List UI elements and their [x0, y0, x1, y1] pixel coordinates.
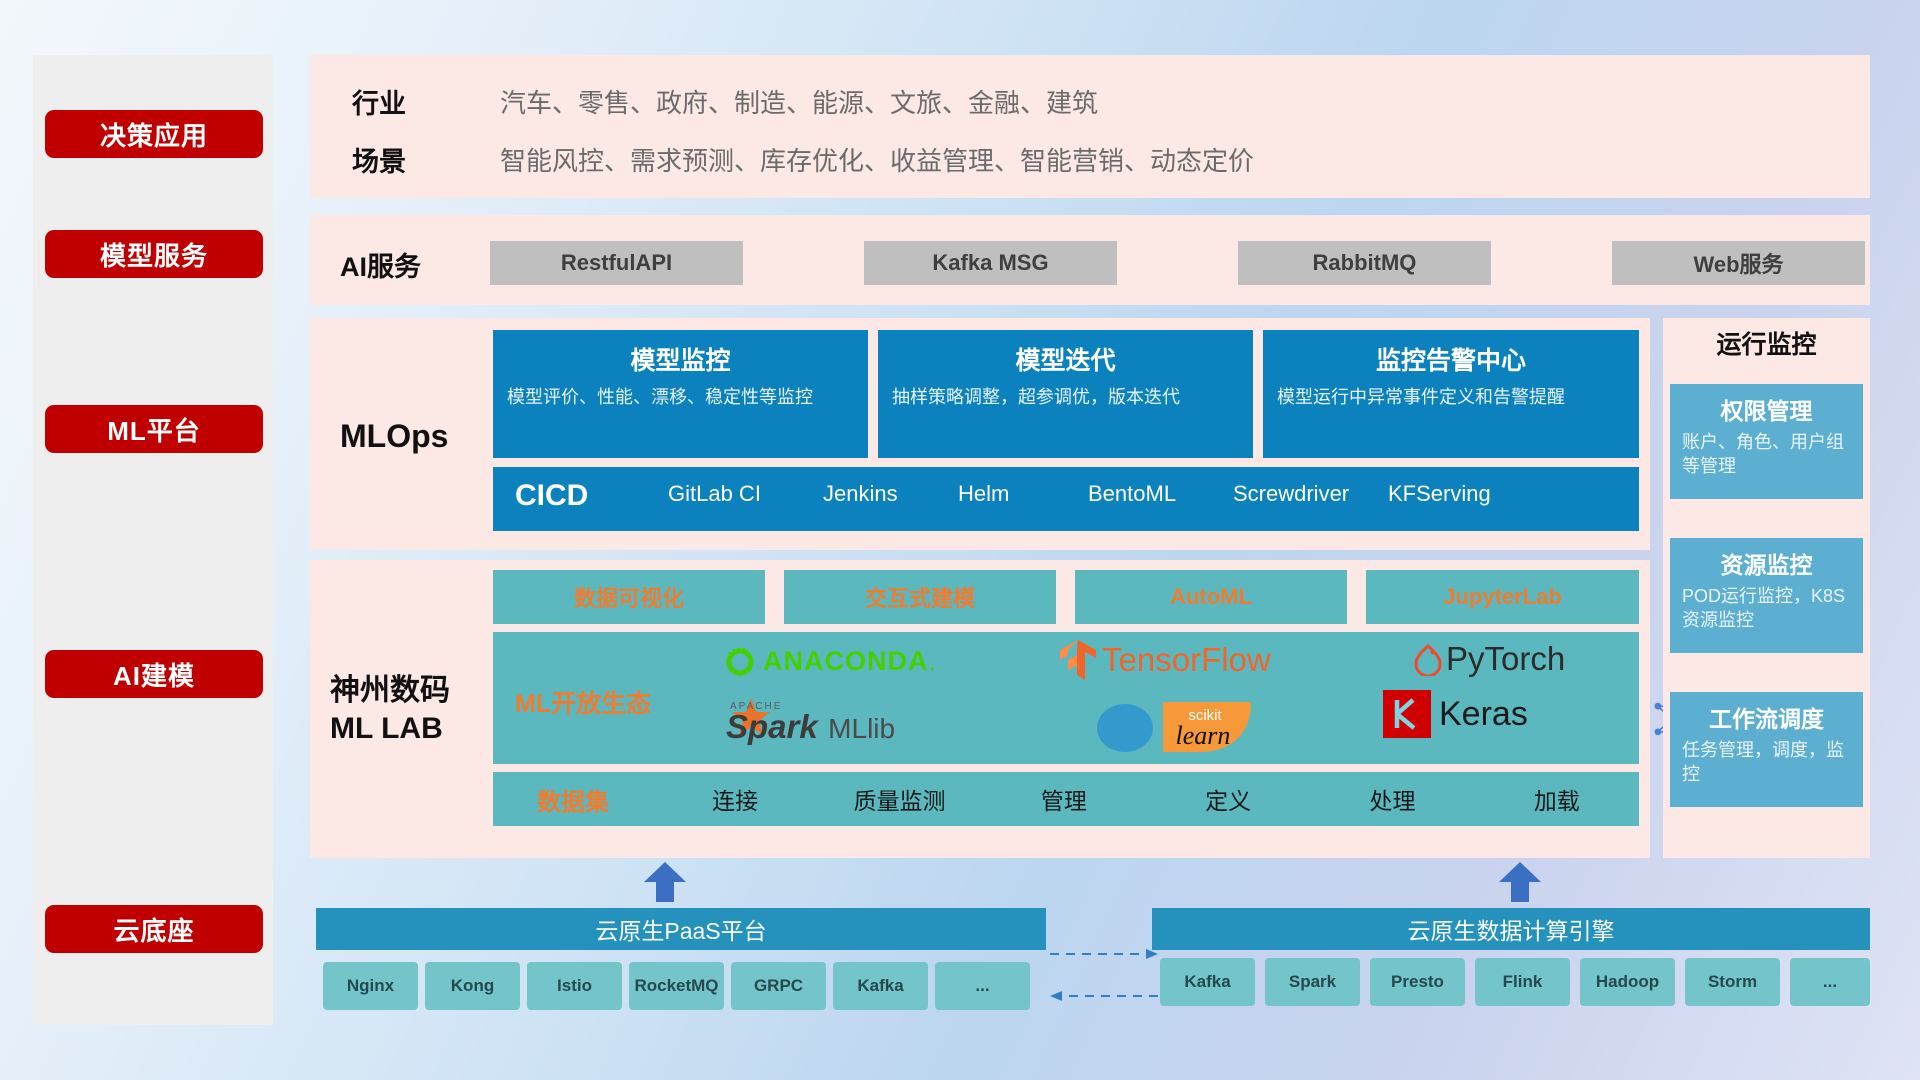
cloud-chip-more-right[interactable]: ...: [1790, 958, 1870, 1006]
monitor-card-permission[interactable]: 权限管理 账户、角色、用户组等管理: [1670, 384, 1863, 499]
chip-label: Spark: [1289, 973, 1336, 992]
svg-text:learn: learn: [1176, 721, 1231, 750]
pytorch-icon: [1413, 642, 1443, 676]
service-chip-web-service[interactable]: Web服务: [1612, 241, 1865, 285]
industry-value: 汽车、零售、政府、制造、能源、文旅、金融、建筑: [500, 83, 1098, 120]
chip-label: 交互式建模: [865, 581, 975, 613]
chip-label: Kong: [451, 977, 494, 996]
dataset-item-connect[interactable]: 连接: [653, 782, 817, 816]
cloud-chip-spark[interactable]: Spark: [1265, 958, 1360, 1006]
rail-item-decision-app[interactable]: 决策应用: [45, 110, 263, 158]
scenario-label: 场景: [352, 140, 406, 179]
anaconda-wordmark: ANACONDA: [763, 646, 929, 677]
rail-item-label: ML平台: [107, 411, 201, 448]
modeling-chip-data-visualization[interactable]: 数据可视化: [493, 570, 765, 624]
dataset-item-quality-monitor[interactable]: 质量监测: [817, 782, 981, 816]
service-chip-restfulapi[interactable]: RestfulAPI: [490, 241, 743, 285]
cloud-chip-kafka-left[interactable]: Kafka: [833, 962, 928, 1010]
cicd-item-jenkins[interactable]: Jenkins: [823, 481, 935, 506]
card-title: 监控告警中心: [1263, 341, 1639, 377]
chip-label: Kafka: [857, 977, 903, 996]
cloud-chip-presto[interactable]: Presto: [1370, 958, 1465, 1006]
cloud-data-engine-bar: 云原生数据计算引擎: [1152, 908, 1870, 950]
cicd-bar: CICD GitLab CI Jenkins Helm BentoML Scre…: [493, 467, 1639, 531]
dataset-item-process[interactable]: 处理: [1310, 782, 1474, 816]
chip-label: RabbitMQ: [1313, 250, 1417, 276]
cloud-chip-nginx[interactable]: Nginx: [323, 962, 418, 1010]
cicd-item-kfserving[interactable]: KFServing: [1388, 481, 1500, 506]
chip-label: JupyterLab: [1443, 584, 1562, 610]
cloud-data-engine-label: 云原生数据计算引擎: [1408, 912, 1615, 946]
card-desc: 任务管理，调度，监控: [1670, 739, 1863, 795]
rail-item-label: 模型服务: [100, 236, 208, 273]
service-chip-kafka-msg[interactable]: Kafka MSG: [864, 241, 1117, 285]
rail-item-label: 决策应用: [100, 116, 208, 153]
chip-label: Hadoop: [1596, 973, 1659, 992]
up-arrow-data-engine: [1497, 862, 1543, 902]
left-rail: [33, 55, 273, 1025]
pytorch-logo: PyTorch: [1413, 640, 1565, 678]
cicd-item-bentoml[interactable]: BentoML: [1088, 481, 1200, 506]
chip-label: AutoML: [1170, 584, 1252, 610]
chip-label: ...: [1823, 973, 1837, 992]
card-desc: POD运行监控，K8S资源监控: [1670, 585, 1863, 641]
cloud-chip-flink[interactable]: Flink: [1475, 958, 1570, 1006]
card-title: 权限管理: [1670, 392, 1863, 426]
dataset-row: 数据集 连接 质量监测 管理 定义 处理 加载: [493, 772, 1639, 826]
industry-label: 行业: [352, 82, 406, 121]
chip-label: Istio: [557, 977, 592, 996]
card-desc: 模型评价、性能、漂移、稳定性等监控: [493, 385, 868, 409]
rail-item-model-service[interactable]: 模型服务: [45, 230, 263, 278]
cicd-item-screwdriver[interactable]: Screwdriver: [1233, 481, 1345, 506]
card-title: 模型监控: [493, 341, 868, 377]
chip-label: RestfulAPI: [561, 250, 672, 276]
anaconda-logo: ANACONDA .: [723, 644, 936, 678]
chip-label: RocketMQ: [634, 977, 718, 996]
anaconda-icon: [723, 644, 757, 678]
scenario-value: 智能风控、需求预测、库存优化、收益管理、智能营销、动态定价: [500, 141, 1254, 178]
card-desc: 账户、角色、用户组等管理: [1670, 431, 1863, 487]
dataset-item-manage[interactable]: 管理: [982, 782, 1146, 816]
cicd-item-helm[interactable]: Helm: [958, 481, 1070, 506]
chip-label: Flink: [1503, 973, 1543, 992]
chip-label: Nginx: [347, 977, 394, 996]
dataset-item-define[interactable]: 定义: [1146, 782, 1310, 816]
rail-item-label: 云底座: [113, 911, 194, 948]
pytorch-wordmark: PyTorch: [1446, 640, 1565, 678]
cloud-paas-bar: 云原生PaaS平台: [316, 908, 1046, 950]
tensorflow-wordmark: TensorFlow: [1102, 641, 1271, 679]
modeling-chip-automl[interactable]: AutoML: [1075, 570, 1347, 624]
ml-lab-line2: ML LAB: [330, 710, 450, 748]
card-title: 工作流调度: [1670, 700, 1863, 734]
spark-mllib-logo: APACHE Spark MLlib: [718, 694, 895, 752]
keras-logo: Keras: [1383, 690, 1528, 738]
card-desc: 模型运行中异常事件定义和告警提醒: [1263, 385, 1639, 409]
tensorflow-logo: TensorFlow: [1058, 638, 1271, 682]
rail-item-cloud-base[interactable]: 云底座: [45, 905, 263, 953]
ml-lab-line1: 神州数码: [330, 672, 450, 710]
cloud-chip-kafka-right[interactable]: Kafka: [1160, 958, 1255, 1006]
keras-wordmark: Keras: [1439, 695, 1528, 734]
cicd-title: CICD: [515, 479, 588, 513]
monitoring-title: 运行监控: [1663, 325, 1870, 361]
chip-label: Presto: [1391, 973, 1444, 992]
cloud-connector-arrows: [1046, 940, 1166, 1010]
cloud-chip-grpc[interactable]: GRPC: [731, 962, 826, 1010]
card-title: 模型迭代: [878, 341, 1253, 377]
keras-icon: [1383, 690, 1431, 738]
cloud-paas-label: 云原生PaaS平台: [595, 912, 766, 946]
cloud-chip-rocketmq[interactable]: RocketMQ: [629, 962, 724, 1010]
cloud-chip-storm[interactable]: Storm: [1685, 958, 1780, 1006]
cloud-chip-istio[interactable]: Istio: [527, 962, 622, 1010]
modeling-chip-jupyterlab[interactable]: JupyterLab: [1366, 570, 1639, 624]
dataset-head: 数据集: [493, 782, 653, 817]
chip-label: GRPC: [754, 977, 803, 996]
up-arrow-paas: [642, 862, 688, 902]
chip-label: ...: [975, 977, 989, 996]
chip-label: Web服务: [1693, 247, 1783, 279]
cloud-chip-hadoop[interactable]: Hadoop: [1580, 958, 1675, 1006]
rail-item-ml-platform[interactable]: ML平台: [45, 405, 263, 453]
mlops-card-model-monitor[interactable]: 模型监控 模型评价、性能、漂移、稳定性等监控: [493, 330, 868, 458]
tensorflow-icon: [1058, 638, 1098, 682]
dataset-item-load[interactable]: 加载: [1475, 782, 1639, 816]
chip-label: Kafka: [1184, 973, 1230, 992]
chip-label: Kafka MSG: [932, 250, 1048, 276]
mlops-label: MLOps: [340, 418, 448, 455]
cloud-chip-more-left[interactable]: ...: [935, 962, 1030, 1010]
monitor-card-workflow[interactable]: 工作流调度 任务管理，调度，监控: [1670, 692, 1863, 807]
ml-ecosystem-label: ML开放生态: [515, 684, 651, 720]
cicd-item-gitlab-ci[interactable]: GitLab CI: [668, 481, 780, 506]
ml-lab-label: 神州数码 ML LAB: [330, 672, 450, 747]
mlops-card-model-iteration[interactable]: 模型迭代 抽样策略调整，超参调优，版本迭代: [878, 330, 1253, 458]
monitor-card-resource[interactable]: 资源监控 POD运行监控，K8S资源监控: [1670, 538, 1863, 653]
chip-label: 数据可视化: [574, 581, 684, 613]
card-title: 资源监控: [1670, 546, 1863, 580]
rail-item-ai-modeling[interactable]: AI建模: [45, 650, 263, 698]
modeling-chip-interactive-modeling[interactable]: 交互式建模: [784, 570, 1056, 624]
scikit-learn-logo: scikit learn: [1093, 694, 1263, 756]
scikit-learn-icon: scikit learn: [1093, 694, 1263, 756]
ml-ecosystem-box: ML开放生态 ANACONDA . TensorFlow PyTorch sas: [493, 632, 1639, 764]
card-desc: 抽样策略调整，超参调优，版本迭代: [878, 385, 1253, 409]
rail-item-label: AI建模: [113, 656, 195, 693]
service-chip-rabbitmq[interactable]: RabbitMQ: [1238, 241, 1491, 285]
ai-service-label: AI服务: [340, 245, 421, 284]
cloud-chip-kong[interactable]: Kong: [425, 962, 520, 1010]
mlops-card-alert-center[interactable]: 监控告警中心 模型运行中异常事件定义和告警提醒: [1263, 330, 1639, 458]
chip-label: Storm: [1708, 973, 1757, 992]
